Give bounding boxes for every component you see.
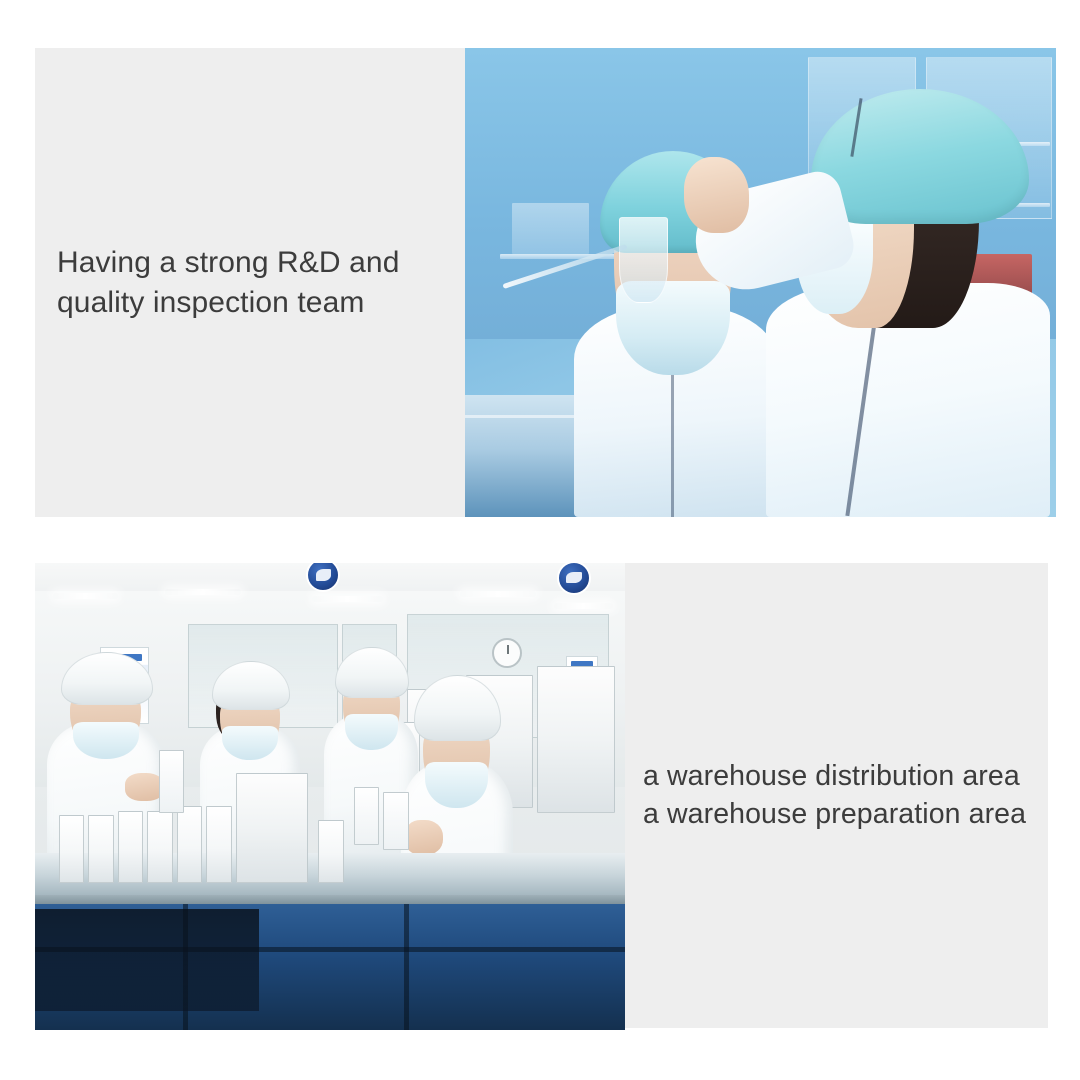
under-table-shadow: [35, 909, 259, 1012]
technician-background: [560, 123, 796, 517]
page-canvas: Having a strong R&D and quality inspecti…: [0, 0, 1080, 1080]
carton: [177, 806, 203, 883]
glass-flask: [619, 217, 668, 303]
carton-tall: [159, 750, 185, 813]
ceiling-fluorescent-light: [312, 596, 383, 602]
frame-leg: [404, 904, 409, 1030]
panel-two-caption-block: a warehouse distribution area a warehous…: [625, 563, 1048, 1028]
carton: [88, 815, 114, 882]
warehouse-packing-line-photo: [35, 563, 625, 1030]
carton: [59, 815, 85, 882]
carton-stack: [537, 666, 616, 813]
technician-foreground: [772, 67, 1056, 517]
ceiling-fluorescent-light: [53, 593, 118, 599]
hair-net-cap: [414, 675, 501, 741]
carton-stack: [236, 773, 309, 882]
ceiling-fluorescent-light: [554, 603, 613, 609]
hair-net-cap: [61, 652, 153, 705]
hair-net-cap: [212, 661, 290, 710]
ceiling-fluorescent-light: [460, 591, 537, 597]
ceiling-fluorescent-light: [165, 589, 242, 595]
hand: [684, 157, 749, 234]
carton-tall: [354, 787, 380, 845]
carton: [318, 820, 344, 883]
carton: [206, 806, 232, 883]
carton: [147, 811, 173, 883]
hair-net-cap: [335, 647, 409, 698]
carton: [118, 811, 144, 883]
carton-tall: [383, 792, 409, 850]
blue-circular-signage: [557, 563, 591, 595]
lab-rnd-quality-inspection-photo: [465, 48, 1056, 517]
wall-clock: [492, 638, 522, 668]
panel-two-caption-text: a warehouse distribution area a warehous…: [643, 758, 1026, 834]
hand: [405, 820, 443, 855]
panel-one-caption-block: Having a strong R&D and quality inspecti…: [35, 48, 465, 517]
panel-one-caption-text: Having a strong R&D and quality inspecti…: [57, 243, 399, 323]
